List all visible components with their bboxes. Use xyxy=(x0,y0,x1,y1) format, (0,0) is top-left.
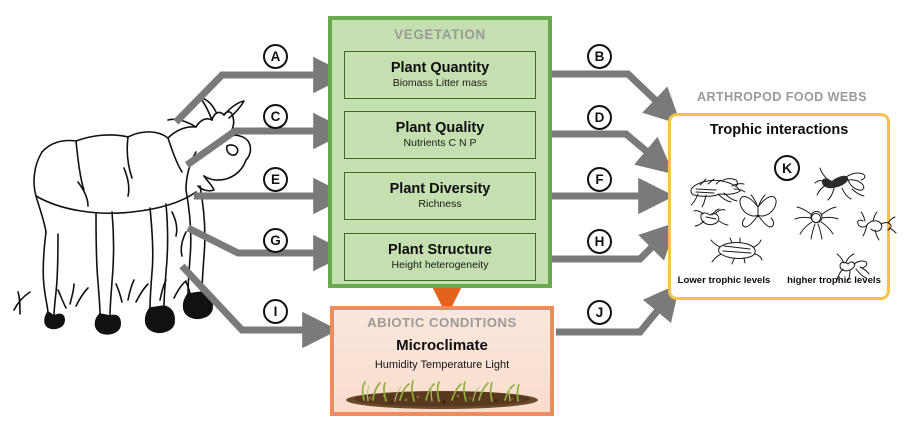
box-title: Plant Structure xyxy=(388,243,492,258)
link-badge-e[interactable]: E xyxy=(263,167,288,192)
soil-grass-photo xyxy=(340,378,544,410)
box-subtitle: Nutrients C N P xyxy=(404,138,477,149)
box-subtitle: Richness xyxy=(418,199,461,210)
link-badge-c[interactable]: C xyxy=(263,104,288,129)
vegetation-box-plant-quality[interactable]: Plant Quality Nutrients C N P xyxy=(344,111,536,159)
higher-trophic-levels-label: higher trophic levels xyxy=(780,275,888,286)
abiotic-panel-title: ABIOTIC CONDITIONS xyxy=(330,315,554,330)
arthropod-food-webs-panel xyxy=(668,113,890,300)
link-badge-j[interactable]: J xyxy=(587,300,612,325)
link-badge-d[interactable]: D xyxy=(587,105,612,130)
link-badge-h[interactable]: H xyxy=(587,229,612,254)
vegetation-box-plant-structure[interactable]: Plant Structure Height heterogeneity xyxy=(344,233,536,281)
link-badge-a[interactable]: A xyxy=(263,44,288,69)
link-badge-i[interactable]: I xyxy=(263,299,288,324)
lower-trophic-levels-label: Lower trophic levels xyxy=(672,275,776,286)
box-subtitle: Height heterogeneity xyxy=(392,260,489,271)
box-title: Plant Quantity xyxy=(391,61,489,76)
link-badge-b[interactable]: B xyxy=(587,44,612,69)
box-title: Plant Diversity xyxy=(390,182,491,197)
trophic-interactions-label: Trophic interactions xyxy=(668,122,890,138)
abiotic-sub-label: Humidity Temperature Light xyxy=(330,359,554,371)
link-badge-k[interactable]: K xyxy=(774,155,800,181)
vegetation-box-plant-diversity[interactable]: Plant Diversity Richness xyxy=(344,172,536,220)
link-badge-f[interactable]: F xyxy=(587,167,612,192)
arthropod-panel-title: ARTHROPOD FOOD WEBS xyxy=(668,90,896,104)
link-badge-g[interactable]: G xyxy=(263,228,288,253)
box-subtitle: Biomass Litter mass xyxy=(393,78,488,89)
vegetation-box-plant-quantity[interactable]: Plant Quantity Biomass Litter mass xyxy=(344,51,536,99)
box-title: Plant Quality xyxy=(396,121,485,136)
vegetation-panel-title: VEGETATION xyxy=(328,27,552,42)
diagram-canvas: VEGETATION Plant Quantity Biomass Litter… xyxy=(0,0,919,429)
abiotic-main-label: Microclimate xyxy=(330,337,554,354)
